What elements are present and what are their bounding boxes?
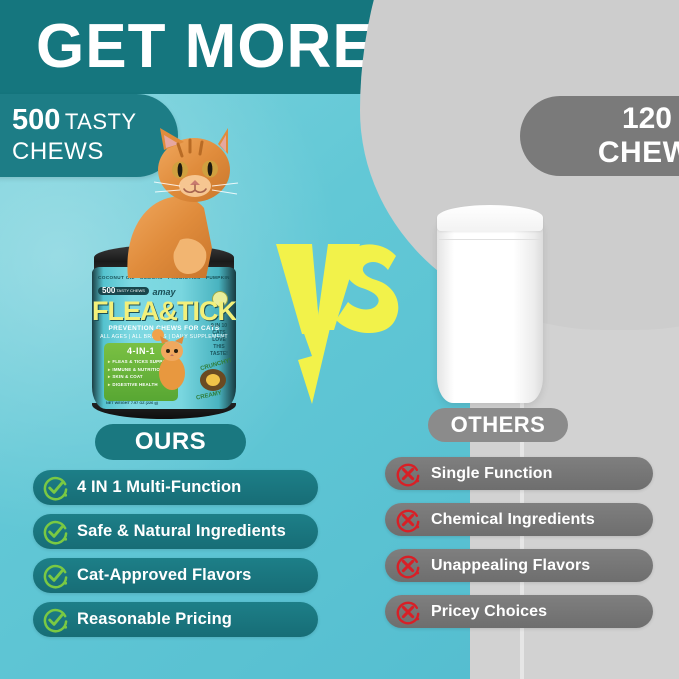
badge-other-chew-count: 120 CHEWS — [520, 96, 679, 176]
list-item[interactable]: Pricey Choices — [385, 595, 653, 628]
list-item[interactable]: Single Function — [385, 457, 653, 490]
versus-icon — [268, 238, 400, 410]
list-item-label: Cat-Approved Flavors — [77, 566, 251, 585]
jar-chip-text: TASTY CHEWS — [116, 288, 145, 293]
list-item-label: 4 IN 1 Multi-Function — [77, 478, 241, 497]
x-circle-icon — [395, 599, 421, 625]
check-circle-icon — [42, 474, 69, 501]
list-item-label: Unappealing Flavors — [431, 557, 590, 575]
list-item-label: Reasonable Pricing — [77, 610, 232, 629]
badge-others-sub: CHEWS — [598, 136, 679, 170]
jar-taste-claim: 9 IN 10 CATS LOVE THIS TASTE! — [206, 323, 232, 358]
page-title: GET MORE — [36, 16, 375, 78]
list-item-label: Pricey Choices — [431, 603, 547, 621]
list-item-label: Chemical Ingredients — [431, 511, 595, 529]
jar-label: COCONUT OIL · OMEGAS · PROBIOTICS · PUMP… — [92, 267, 236, 409]
list-item[interactable]: Unappealing Flavors — [385, 549, 653, 582]
list-item-label: Safe & Natural Ingredients — [77, 522, 286, 541]
check-circle-icon — [42, 518, 69, 545]
competitor-jar-seam — [439, 239, 541, 240]
infographic-canvas: GET MORE 500 TASTY CHEWS 120 CHEWS — [0, 0, 679, 679]
badge-ours-top-line: 500 TASTY — [12, 104, 137, 137]
jar-cat-illustration — [152, 335, 192, 391]
list-item-label: Single Function — [431, 465, 553, 483]
ours-section-heading: OURS — [95, 424, 246, 460]
badge-others-number: 120 — [622, 102, 672, 136]
jar-net-weight: NET WEIGHT 7.97 OZ (226 g) — [106, 401, 158, 405]
check-circle-icon — [42, 562, 69, 589]
x-circle-icon — [395, 507, 421, 533]
cat-photo — [122, 128, 250, 278]
badge-ours-sub: CHEWS — [12, 138, 104, 166]
x-circle-icon — [395, 553, 421, 579]
badge-ours-number: 500 — [12, 104, 60, 136]
x-circle-icon — [395, 461, 421, 487]
list-item[interactable]: Safe & Natural Ingredients — [33, 514, 318, 549]
jar-chew-illustration — [198, 367, 228, 393]
jar-chip-number: 500 — [102, 286, 115, 295]
competitor-jar-body — [437, 223, 543, 403]
competitor-jar-lid — [437, 205, 543, 231]
competitor-product-jar — [437, 205, 543, 405]
list-item[interactable]: Reasonable Pricing — [33, 602, 318, 637]
list-item[interactable]: Chemical Ingredients — [385, 503, 653, 536]
jar-count-chip: 500 TASTY CHEWS — [98, 287, 149, 295]
ours-feature-list: 4 IN 1 Multi-Function Safe & Natural Ing… — [33, 470, 318, 646]
others-section-heading: OTHERS — [428, 408, 568, 442]
list-item[interactable]: Cat-Approved Flavors — [33, 558, 318, 593]
list-item[interactable]: 4 IN 1 Multi-Function — [33, 470, 318, 505]
others-feature-list: Single Function Chemical Ingredients Una… — [385, 457, 653, 641]
check-circle-icon — [42, 606, 69, 633]
jar-product-title: FLEA&TICK — [92, 297, 236, 325]
